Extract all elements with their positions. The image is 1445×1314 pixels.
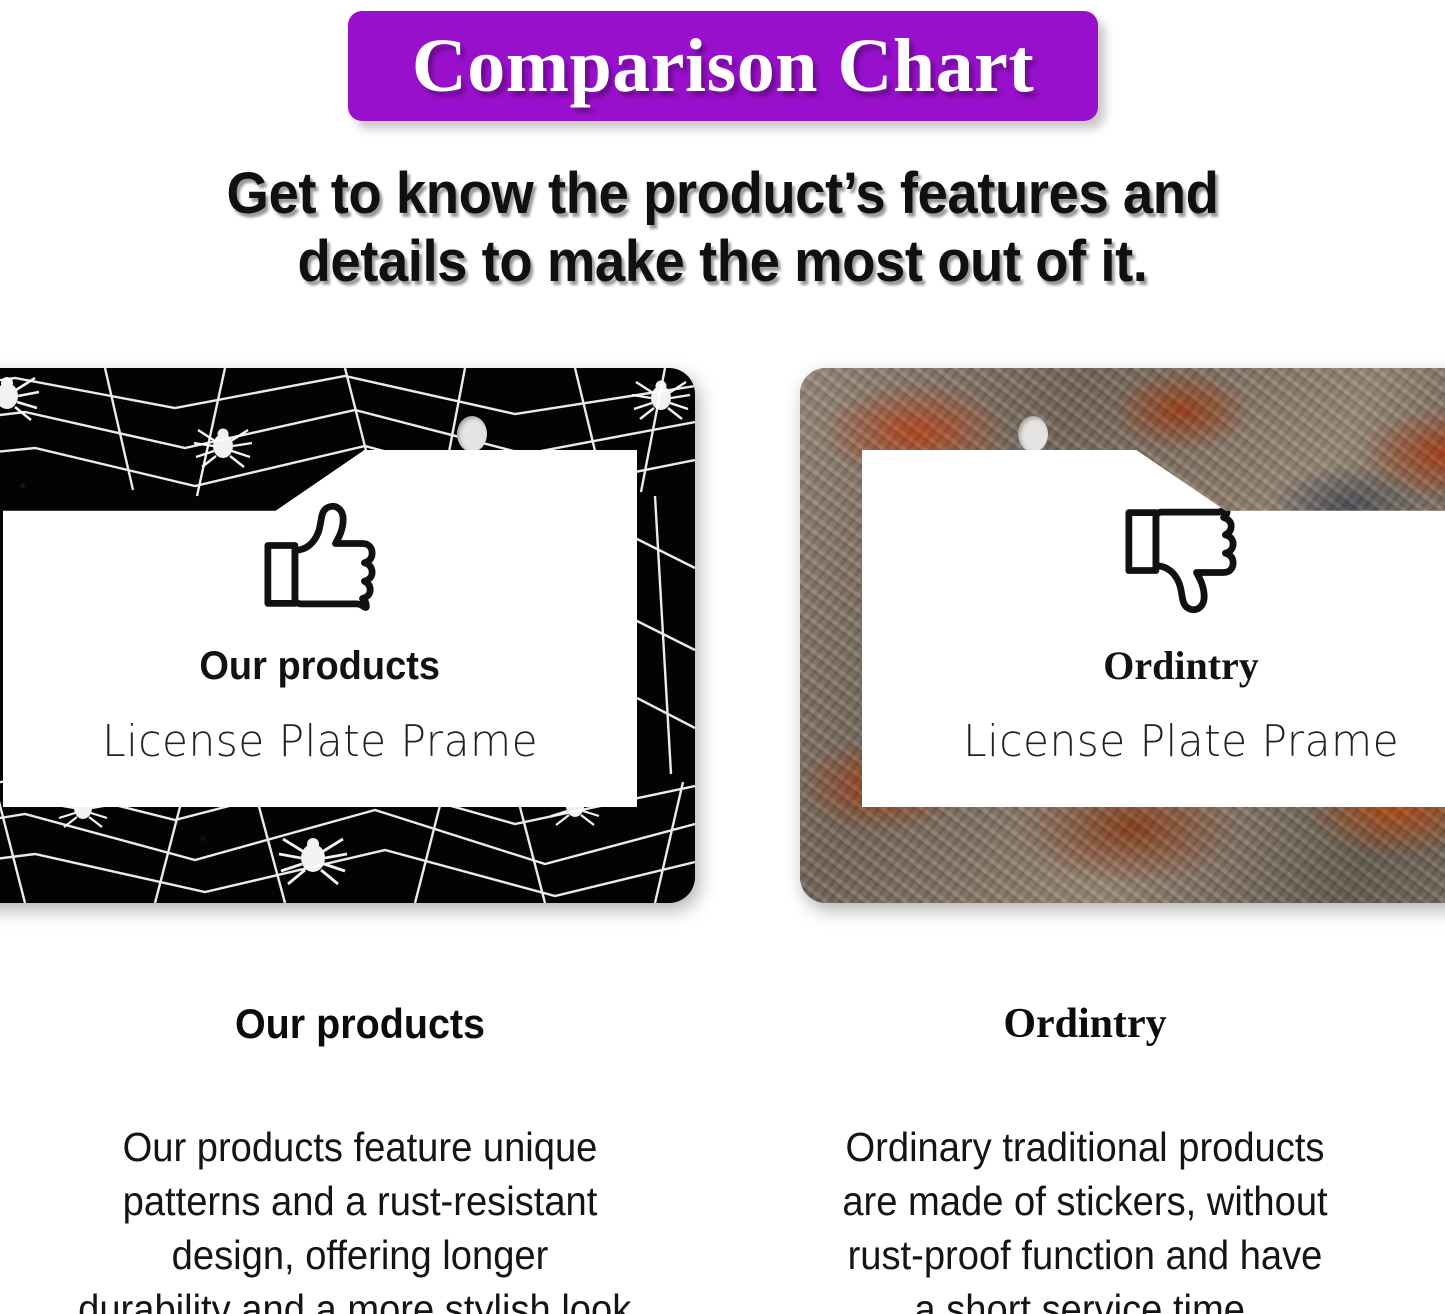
product-image-our-products: Our products License Plate Prame (0, 368, 695, 903)
thumbs-down-icon (1123, 502, 1239, 614)
description-body-left: Our products feature unique patterns and… (25, 1120, 695, 1314)
comparison-chart-page: Comparison Chart Get to know the product… (0, 0, 1445, 1314)
title-banner: Comparison Chart (348, 11, 1098, 121)
description-line: a short service time. (750, 1282, 1420, 1314)
description-column-ordinary: Ordintry Ordinary traditional products a… (725, 1000, 1445, 1314)
description-line: rust-proof function and have (750, 1228, 1420, 1282)
mounting-hole-icon (1018, 416, 1048, 452)
description-line: Our products feature unique (25, 1120, 695, 1174)
subtitle: Get to know the product’s features and d… (43, 160, 1401, 296)
license-plate-frame-rusted: Ordintry License Plate Prame (800, 368, 1445, 903)
description-heading-right: Ordintry (725, 1000, 1445, 1048)
description-line: are made of stickers, without (750, 1174, 1420, 1228)
description-heading-left: Our products (22, 1000, 699, 1048)
description-line: patterns and a rust-resistant (25, 1174, 695, 1228)
thumbs-up-icon (262, 502, 378, 614)
subtitle-line-2: details to make the most out of it. (43, 228, 1401, 296)
description-line: Ordinary traditional products (750, 1120, 1420, 1174)
product-image-ordinary: Ordintry License Plate Prame (800, 368, 1445, 903)
subtitle-line-1: Get to know the product’s features and (43, 160, 1401, 228)
brand-label-right: Ordintry (1103, 644, 1259, 688)
mounting-hole-icon (457, 416, 487, 452)
description-body-right: Ordinary traditional products are made o… (750, 1120, 1420, 1314)
description-column-our-products: Our products Our products feature unique… (0, 1000, 720, 1314)
page-title: Comparison Chart (412, 28, 1034, 104)
plate-caption-right: License Plate Prame (963, 718, 1399, 766)
description-line: durability and a more stylish look. (25, 1282, 695, 1314)
description-line: design, offering longer (25, 1228, 695, 1282)
plate-caption-left: License Plate Prame (102, 718, 538, 766)
brand-label-left: Our products (200, 644, 441, 688)
license-plate-frame-spiderweb: Our products License Plate Prame (0, 368, 695, 903)
